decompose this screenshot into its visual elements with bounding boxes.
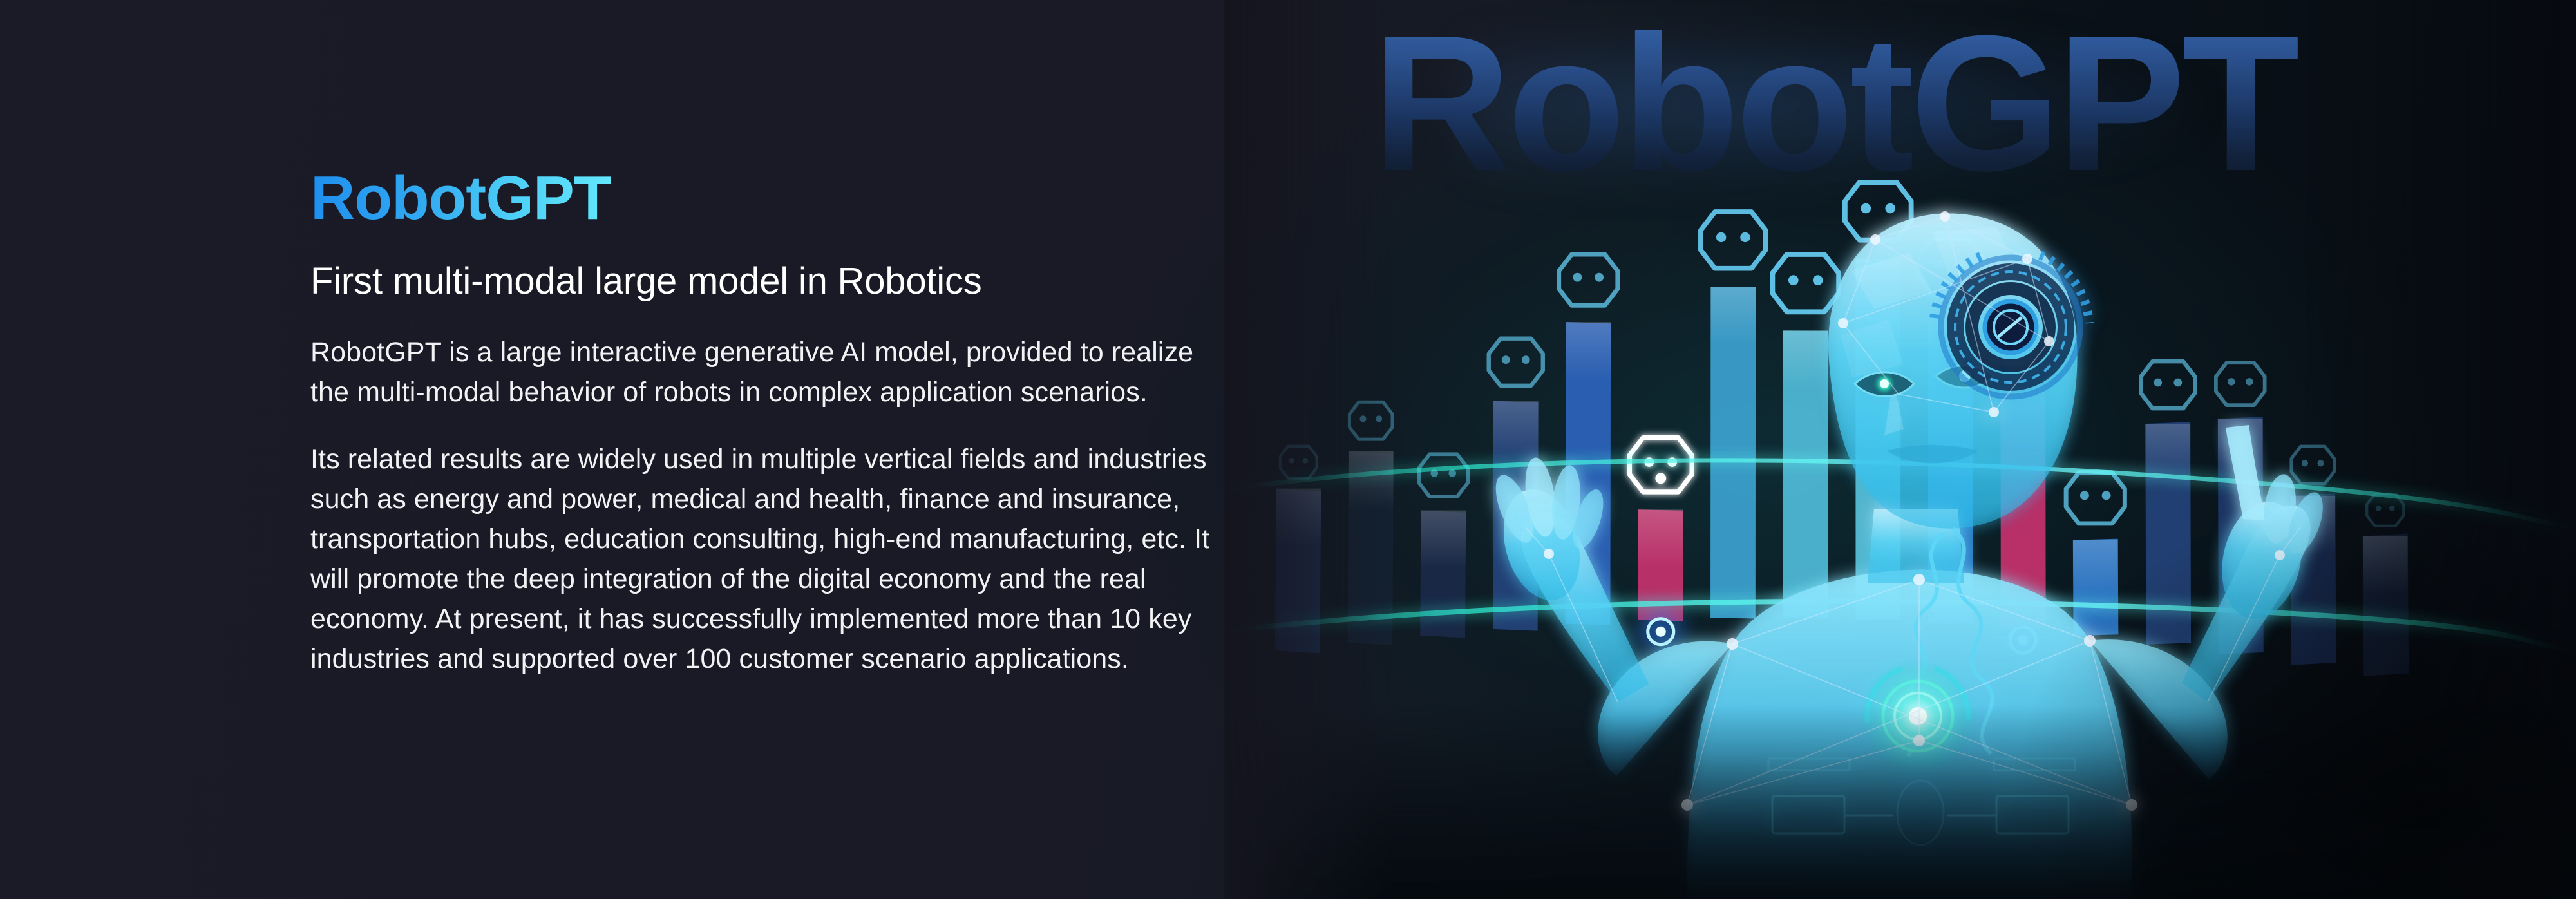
hero-copy-block: RobotGPT First multi-modal large model i…	[310, 165, 1225, 679]
hero-paragraph-2: Its related results are widely used in m…	[310, 439, 1225, 679]
hero-illustration: RobotGPT	[1224, 0, 2576, 899]
illustration-vignette	[1224, 0, 2576, 899]
brand-title: RobotGPT	[310, 165, 611, 232]
hero-paragraph-1: RobotGPT is a large interactive generati…	[310, 332, 1225, 412]
hero-tagline: First multi-modal large model in Robotic…	[310, 260, 1225, 303]
hero-banner: RobotGPT First multi-modal large model i…	[0, 0, 2576, 899]
